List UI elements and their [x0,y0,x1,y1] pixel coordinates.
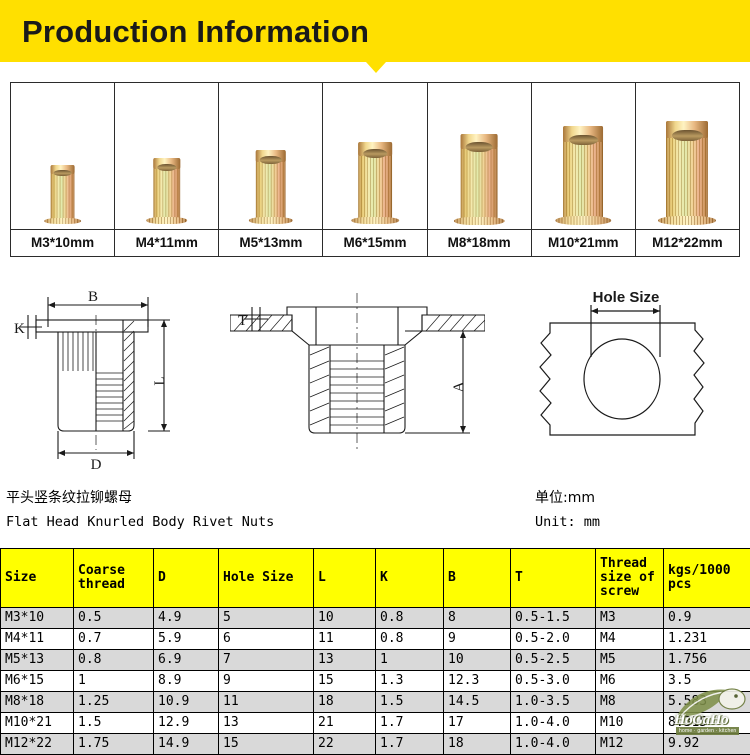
table-cell: 5.9 [154,629,219,650]
dimension-label-K: K [14,321,25,337]
table-row: M5*130.86.97131100.5-2.5M51.756 [1,650,750,671]
caption-chinese-unit: 单位:mm [535,487,595,507]
table-cell: 10.9 [154,692,219,713]
table-column-header: Hole Size [219,549,314,608]
table-cell: 22 [314,734,376,755]
table-row: M6*1518.99151.312.30.5-3.0M63.5 [1,671,750,692]
table-cell: 9 [444,629,511,650]
table-cell: 4.9 [154,608,219,629]
table-cell: 0.7 [74,629,154,650]
caption-english-name: Flat Head Knurled Body Rivet Nuts [6,514,274,530]
table-cell: 1.7 [376,713,444,734]
table-column-header: Coarse thread [74,549,154,608]
caption-chinese-name: 平头竖条纹拉铆螺母 [6,487,132,507]
rivet-nut-section-drawing: B K L D [8,275,243,471]
table-cell: 0.5-1.5 [511,608,596,629]
table-cell: 5 [219,608,314,629]
caption-english-unit: Unit: mm [535,514,600,530]
table-cell: M12 [596,734,664,755]
table-column-header: L [314,549,376,608]
table-cell: 1.75 [74,734,154,755]
table-cell: 14.9 [154,734,219,755]
table-body: M3*100.54.95100.880.5-1.5M30.9M4*110.75.… [1,608,750,755]
table-cell: 11 [314,629,376,650]
page-header-banner: Production Information [0,0,750,62]
table-cell: 8.9 [154,671,219,692]
product-cell: M5*13mm [219,83,323,256]
table-cell: 8 [444,608,511,629]
table-cell: 1.756 [664,650,750,671]
table-cell: 18 [314,692,376,713]
table-cell: M10*21 [1,713,74,734]
table-cell: 17 [444,713,511,734]
table-column-header: D [154,549,219,608]
table-cell: M8*18 [1,692,74,713]
table-cell: 0.8 [376,608,444,629]
product-cell: M8*18mm [428,83,532,256]
table-cell: 8.315 [664,713,750,734]
table-cell: 14.5 [444,692,511,713]
table-row: M4*110.75.96110.890.5-2.0M41.231 [1,629,750,650]
dimension-label-D: D [91,457,102,471]
product-size-label: M3*10mm [11,229,114,256]
table-cell: 0.5 [74,608,154,629]
dimension-label-L: L [152,376,168,385]
dimension-label-B: B [88,289,98,305]
banner-notch-triangle [366,62,386,73]
table-cell: M8 [596,692,664,713]
product-size-label: M6*15mm [323,229,426,256]
table-cell: 18 [444,734,511,755]
table-column-header: Size [1,549,74,608]
table-cell: 0.9 [664,608,750,629]
table-cell: 1 [376,650,444,671]
product-size-label: M4*11mm [115,229,218,256]
table-cell: M10 [596,713,664,734]
technical-diagram-row: B K L D [0,275,750,475]
page-title: Production Information [22,14,369,50]
table-column-header: B [444,549,511,608]
hole-size-drawing: Hole Size [510,275,745,471]
dimension-label-T: T [238,313,247,329]
table-column-header: T [511,549,596,608]
table-cell: M4*11 [1,629,74,650]
table-cell: 1.3 [376,671,444,692]
product-cell: M3*10mm [11,83,115,256]
specification-table: SizeCoarse threadDHole SizeLKBTThread si… [0,548,750,755]
table-cell: 5.583 [664,692,750,713]
table-caption-block: 平头竖条纹拉铆螺母 单位:mm Flat Head Knurled Body R… [6,487,746,545]
table-cell: 0.5-3.0 [511,671,596,692]
rivet-nut-photo [115,83,218,229]
table-cell: M5*13 [1,650,74,671]
table-cell: M3*10 [1,608,74,629]
table-cell: 1.25 [74,692,154,713]
table-cell: 0.5-2.5 [511,650,596,671]
table-cell: 10 [314,608,376,629]
hole-size-label: Hole Size [593,289,660,306]
table-cell: 11 [219,692,314,713]
table-row: M3*100.54.95100.880.5-1.5M30.9 [1,608,750,629]
table-cell: 1.5 [74,713,154,734]
table-cell: 1.5 [376,692,444,713]
rivet-nut-photo [323,83,426,229]
table-row: M8*181.2510.911181.514.51.0-3.5M85.583 [1,692,750,713]
table-cell: 7 [219,650,314,671]
table-cell: 1.0-4.0 [511,734,596,755]
table-cell: 1 [74,671,154,692]
table-cell: 1.7 [376,734,444,755]
table-cell: M6 [596,671,664,692]
table-column-header: kgs/1000 pcs [664,549,750,608]
table-cell: 6.9 [154,650,219,671]
dimension-label-A: A [451,381,467,392]
table-header: SizeCoarse threadDHole SizeLKBTThread si… [1,549,750,608]
table-cell: 0.5-2.0 [511,629,596,650]
table-cell: 0.8 [376,629,444,650]
table-cell: 15 [219,734,314,755]
rivet-nut-photo [636,83,739,229]
table-column-header: K [376,549,444,608]
rivet-nut-photo [532,83,635,229]
table-cell: 12.9 [154,713,219,734]
table-header-row: SizeCoarse threadDHole SizeLKBTThread si… [1,549,750,608]
table-cell: 13 [219,713,314,734]
table-cell: 3.5 [664,671,750,692]
product-size-label: M12*22mm [636,229,739,256]
table-cell: 12.3 [444,671,511,692]
product-size-label: M10*21mm [532,229,635,256]
product-size-label: M5*13mm [219,229,322,256]
table-cell: 1.231 [664,629,750,650]
table-cell: M6*15 [1,671,74,692]
table-cell: 6 [219,629,314,650]
table-column-header: Thread size of screw [596,549,664,608]
table-cell: 1.0-4.0 [511,713,596,734]
rivet-nut-installed-drawing: T A [230,275,485,471]
product-cell: M12*22mm [636,83,739,256]
table-cell: 10 [444,650,511,671]
table-cell: 21 [314,713,376,734]
table-cell: 15 [314,671,376,692]
product-cell: M4*11mm [115,83,219,256]
product-size-label: M8*18mm [428,229,531,256]
table-cell: M3 [596,608,664,629]
product-cell: M6*15mm [323,83,427,256]
table-row: M10*211.512.913211.7171.0-4.0M108.315 [1,713,750,734]
table-cell: 0.8 [74,650,154,671]
table-cell: 1.0-3.5 [511,692,596,713]
rivet-nut-photo [428,83,531,229]
product-image-strip: M3*10mmM4*11mmM5*13mmM6*15mmM8*18mmM10*2… [10,82,740,257]
table-cell: M5 [596,650,664,671]
rivet-nut-photo [219,83,322,229]
table-cell: 9.92 [664,734,750,755]
rivet-nut-photo [11,83,114,229]
table-cell: M12*22 [1,734,74,755]
product-cell: M10*21mm [532,83,636,256]
table-row: M12*221.7514.915221.7181.0-4.0M129.92 [1,734,750,755]
table-cell: 9 [219,671,314,692]
table-cell: 13 [314,650,376,671]
table-cell: M4 [596,629,664,650]
